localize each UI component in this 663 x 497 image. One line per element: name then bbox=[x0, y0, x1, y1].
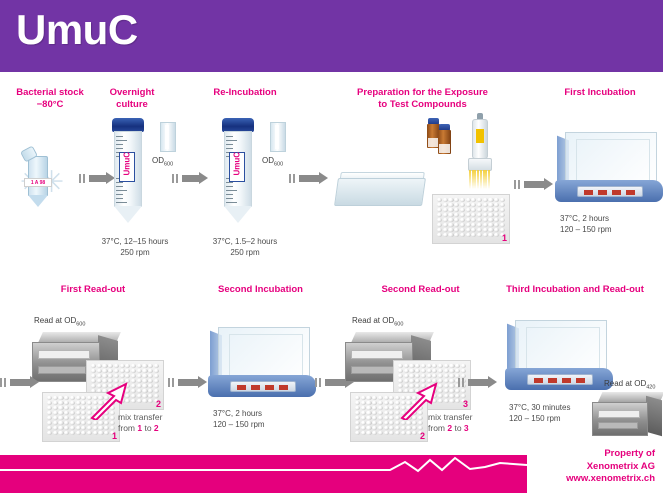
tube-cone bbox=[224, 206, 252, 223]
flow-arrow-6 bbox=[168, 376, 208, 389]
step-title-re-incubation: Re-Incubation bbox=[195, 87, 295, 99]
shaking-incubator-2 bbox=[208, 325, 316, 401]
reader-plate-slot bbox=[351, 350, 403, 359]
incubator-glass-hood bbox=[565, 132, 657, 184]
od-label-1: OD600 bbox=[152, 156, 173, 168]
flow-arrow-4 bbox=[514, 178, 554, 191]
vial-body bbox=[438, 130, 451, 154]
shaking-incubator-1 bbox=[555, 130, 663, 206]
shaking-incubator-3 bbox=[505, 318, 613, 394]
cryovial-tip bbox=[28, 195, 48, 207]
caption-overnight-culture: 37°C, 12–15 hours 250 rpm bbox=[80, 236, 190, 258]
reader-plate-slot bbox=[598, 410, 640, 418]
footer-website-link[interactable]: www.xenometrix.ch bbox=[455, 473, 655, 486]
step-title-bacterial-stock: Bacterial stock −80°C bbox=[2, 87, 98, 111]
microplate-1: 1 bbox=[432, 194, 510, 244]
step-title-preparation: Preparation for the Exposure to Test Com… bbox=[330, 87, 515, 111]
flow-arrow-3 bbox=[289, 172, 329, 185]
caption-first-incubation: 37°C, 2 hours 120 – 150 rpm bbox=[560, 213, 612, 235]
microplate-number: 1 bbox=[112, 431, 117, 441]
flow-arrow-5 bbox=[0, 376, 40, 389]
flow-arrow-1 bbox=[79, 172, 115, 185]
read-label-3: Read at OD420 bbox=[604, 379, 655, 391]
cuvette-icon-2 bbox=[270, 122, 286, 152]
cuvette-body bbox=[160, 122, 176, 152]
step-title-first-incubation: First Incubation bbox=[545, 87, 655, 99]
tube-cap bbox=[112, 118, 144, 132]
page-title: UmuC bbox=[16, 6, 138, 54]
arrow-shaft bbox=[524, 181, 544, 188]
cryovial-icon: ✳✳ 1 A 98 bbox=[8, 148, 70, 210]
caption-third-incubation: 37°C, 30 minutes 120 – 150 rpm bbox=[509, 402, 570, 424]
amber-vial-2 bbox=[438, 124, 451, 154]
vial-label bbox=[439, 144, 450, 153]
arrow-ticks bbox=[168, 378, 176, 387]
arrow-head bbox=[30, 376, 39, 388]
od-label-2: OD600 bbox=[262, 156, 283, 168]
mix-transfer-from-to-2: from 2 to 3 bbox=[428, 423, 472, 434]
reader-drawer bbox=[598, 422, 638, 429]
arrow-ticks bbox=[514, 180, 522, 189]
step-title-third-incubation: Third Incubation and Read-out bbox=[487, 284, 663, 296]
footer-wave-line bbox=[0, 455, 527, 493]
cuvette-body bbox=[270, 122, 286, 152]
arrow-head bbox=[199, 172, 208, 184]
reservoir-body bbox=[334, 178, 426, 206]
cryovial-tube bbox=[28, 156, 48, 196]
flow-arrow-8 bbox=[458, 376, 498, 389]
arrow-shaft bbox=[468, 379, 488, 386]
incubator-display-panel bbox=[577, 186, 643, 197]
microplate-number: 2 bbox=[156, 399, 161, 409]
arrow-shaft bbox=[10, 379, 30, 386]
reader-plate-slot bbox=[38, 350, 90, 359]
arrow-shaft bbox=[178, 379, 198, 386]
reagent-reservoir-icon bbox=[332, 170, 428, 210]
tube-cone bbox=[114, 206, 142, 223]
slide-header: UmuC bbox=[0, 0, 663, 72]
caption-second-incubation: 37°C, 2 hours 120 – 150 rpm bbox=[213, 408, 265, 430]
pipette-volume-window bbox=[476, 129, 484, 143]
arrow-shaft bbox=[299, 175, 319, 182]
mix-transfer-note-2: mix transfer from 2 to 3 bbox=[428, 412, 472, 434]
mix-transfer-note-1: mix transfer from 1 to 2 bbox=[118, 412, 162, 434]
incubator-display-panel bbox=[527, 374, 593, 385]
microplate-wells bbox=[437, 198, 505, 237]
arrow-ticks bbox=[172, 174, 180, 183]
tube-label: UmuC bbox=[119, 152, 135, 182]
arrow-ticks bbox=[79, 174, 87, 183]
tube-label: UmuC bbox=[229, 152, 245, 182]
reader-drawer bbox=[351, 366, 399, 374]
footer-bar bbox=[0, 455, 527, 493]
mix-transfer-from-to-1: from 1 to 2 bbox=[118, 423, 162, 434]
step-title-overnight-culture: Overnight culture bbox=[92, 87, 172, 111]
arrow-ticks bbox=[458, 378, 466, 387]
incubator-glass-hood bbox=[515, 320, 607, 372]
arrow-shaft bbox=[182, 175, 199, 182]
read-label-1: Read at OD600 bbox=[34, 316, 85, 328]
slide-root: UmuC Bacterial stock −80°C ✳✳ 1 A 98 Ove… bbox=[0, 0, 663, 497]
arrow-head bbox=[319, 172, 328, 184]
microplate-number: 1 bbox=[502, 233, 507, 243]
arrow-shaft bbox=[325, 379, 345, 386]
incubator-glass-hood bbox=[218, 327, 310, 379]
caption-re-incubation: 37°C, 1.5–2 hours 250 rpm bbox=[190, 236, 300, 258]
reader-side bbox=[646, 396, 662, 437]
arrow-ticks bbox=[315, 378, 323, 387]
read-label-2: Read at OD600 bbox=[352, 316, 403, 328]
incubator-display-panel bbox=[230, 381, 296, 392]
reader-drawer bbox=[38, 366, 86, 374]
reader-front bbox=[592, 402, 648, 436]
microplate-number: 3 bbox=[463, 399, 468, 409]
arrow-head bbox=[544, 178, 553, 190]
cuvette-icon-1 bbox=[160, 122, 176, 152]
step-title-second-incubation: Second Incubation bbox=[198, 284, 323, 296]
arrow-shaft bbox=[89, 175, 106, 182]
arrow-head bbox=[198, 376, 207, 388]
pipette-tips bbox=[469, 170, 491, 190]
arrow-head bbox=[488, 376, 497, 388]
step-title-second-readout: Second Read-out bbox=[358, 284, 483, 296]
arrow-ticks bbox=[289, 174, 297, 183]
tube-cap bbox=[222, 118, 254, 132]
footer-credit: Property of Xenometrix AG www.xenometrix… bbox=[455, 448, 655, 486]
microplate-number: 2 bbox=[420, 431, 425, 441]
cryovial-label: 1 A 98 bbox=[24, 178, 52, 187]
multichannel-pipette-icon bbox=[467, 113, 493, 191]
step-title-first-readout: First Read-out bbox=[38, 284, 148, 296]
flow-arrow-2 bbox=[172, 172, 208, 185]
arrow-ticks bbox=[0, 378, 8, 387]
plate-reader-3 bbox=[592, 392, 662, 436]
